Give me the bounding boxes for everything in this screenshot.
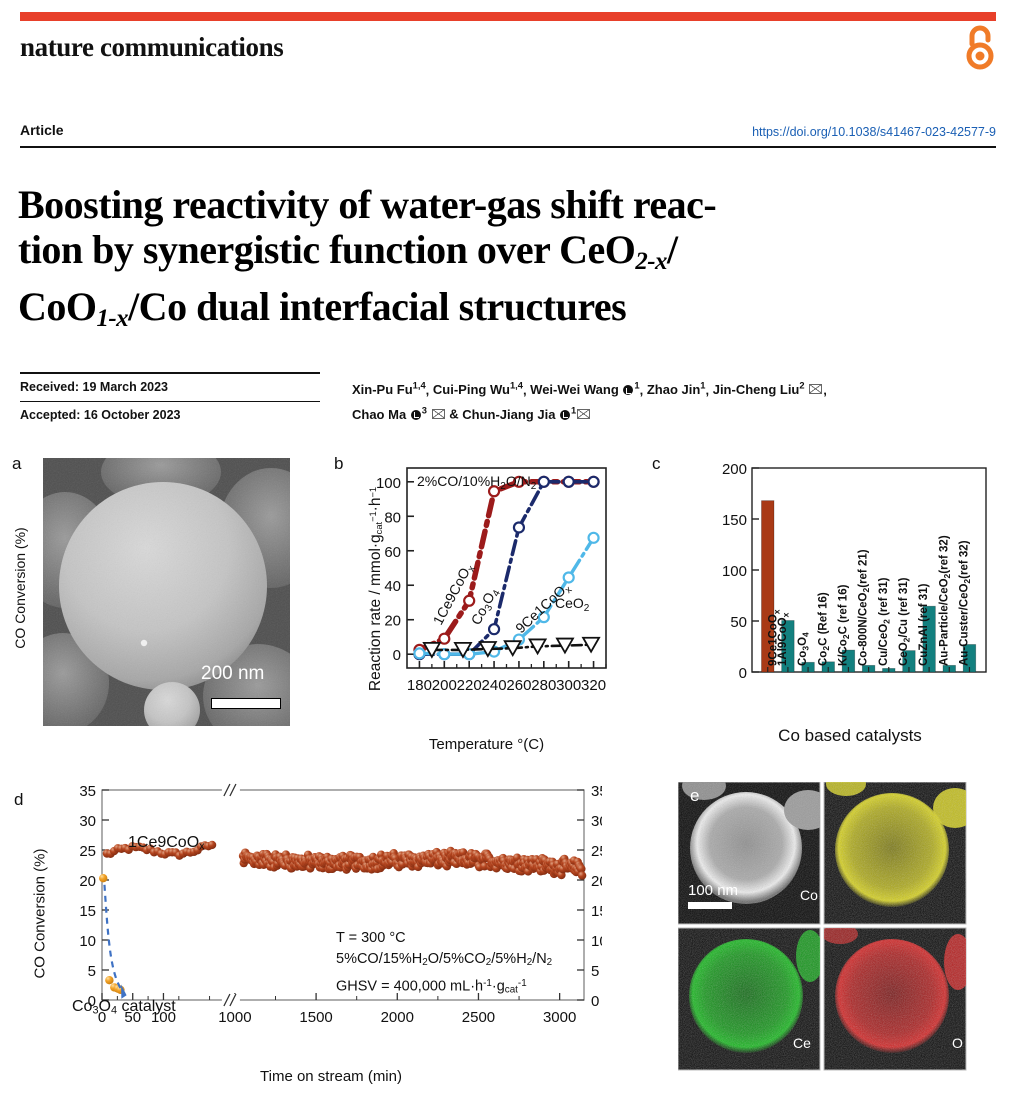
- author-list: Xin-Pu Fu1,4, Cui-Ping Wu1,4, Wei-Wei Wa…: [352, 376, 1000, 425]
- svg-text:1000: 1000: [218, 1009, 251, 1026]
- brand-accent-bar: [20, 12, 996, 21]
- author-zhao-jin: Zhao Jin1: [647, 382, 706, 397]
- author-chun-jiang-jia: Chun-Jiang Jia 1: [462, 407, 591, 422]
- paper-page: nature communications Article https://do…: [0, 0, 1016, 1095]
- figure-panel-group: a: [0, 450, 1016, 1095]
- title-line-3a: CoO: [18, 284, 97, 329]
- orcid-icon[interactable]: [560, 410, 570, 420]
- svg-text:240: 240: [482, 677, 507, 694]
- title-line-2-sub: 2-x: [635, 248, 667, 275]
- svg-text:25: 25: [79, 843, 96, 860]
- svg-text:200: 200: [722, 461, 747, 478]
- svg-text:0: 0: [591, 993, 599, 1010]
- panel-e-label: e: [690, 786, 699, 806]
- svg-text:60: 60: [384, 544, 401, 561]
- author-cui-ping-wu: Cui-Ping Wu1,4: [433, 382, 523, 397]
- svg-text:1Al9CoOx: 1Al9CoOx: [777, 612, 791, 666]
- panel-a-sem-image: 200 nm: [43, 458, 290, 726]
- panel-c-x-axis-title: Co based catalysts: [700, 726, 1000, 746]
- page-title: Boosting reactivity of water-gas shift r…: [18, 182, 718, 341]
- author-jin-cheng-liu: Jin-Cheng Liu2: [713, 382, 824, 397]
- panel-b-chart: 0204060801001802002202402602803003201Ce9…: [363, 458, 610, 713]
- svg-text:300: 300: [556, 677, 581, 694]
- email-icon[interactable]: [432, 409, 445, 419]
- panel-d-condition-ghsv: GHSV = 400,000 mL·h-1·gcat-1: [336, 973, 552, 1001]
- panel-c-y-axis-title: Reaction rate / mmol·gcat−1·h−1: [367, 469, 385, 709]
- email-icon[interactable]: [809, 384, 822, 394]
- svg-text:Co-800N/CeO2(ref 21): Co-800N/CeO2(ref 21): [858, 549, 872, 666]
- svg-text:80: 80: [384, 509, 401, 526]
- svg-text:15: 15: [591, 903, 602, 920]
- received-date: Received: 19 March 2023: [20, 374, 320, 401]
- svg-text:100: 100: [722, 563, 747, 580]
- panel-e-map-label-ce: Ce: [793, 1035, 811, 1051]
- header-divider: [20, 146, 996, 148]
- svg-text:0: 0: [393, 647, 401, 664]
- panel-d-conditions: T = 300 °C 5%CO/15%H2O/5%CO2/5%H2/N2 GHS…: [336, 928, 552, 1001]
- panel-d-condition-feed: 5%CO/15%H2O/5%CO2/5%H2/N2: [336, 949, 552, 973]
- svg-text:220: 220: [457, 677, 482, 694]
- svg-text:CeO2/Cu (ref 31): CeO2/Cu (ref 31): [898, 577, 912, 666]
- svg-text:200: 200: [432, 677, 457, 694]
- panel-d-label: d: [14, 790, 23, 810]
- author-xin-pu-fu: Xin-Pu Fu1,4: [352, 382, 426, 397]
- panel-e-map-label-o: O: [952, 1035, 963, 1051]
- svg-text:Au-Particle/CeO2(ref 32): Au-Particle/CeO2(ref 32): [938, 535, 952, 666]
- svg-text:5: 5: [88, 963, 96, 980]
- svg-text:25: 25: [591, 843, 602, 860]
- svg-text:320: 320: [581, 677, 606, 694]
- svg-text:180: 180: [407, 677, 432, 694]
- panel-e-scale-bar: [688, 902, 732, 909]
- title-line-3b: /Co dual interfacial structures: [128, 284, 626, 329]
- email-icon[interactable]: [577, 409, 590, 419]
- panel-d-series-label-main: 1Ce9CoOx: [128, 832, 205, 857]
- svg-text:Co2C (Ref 16): Co2C (Ref 16): [817, 592, 831, 666]
- svg-text:20: 20: [79, 873, 96, 890]
- doi-link[interactable]: https://doi.org/10.1038/s41467-023-42577…: [752, 125, 996, 139]
- svg-text:0: 0: [739, 665, 747, 682]
- svg-text:260: 260: [506, 677, 531, 694]
- svg-text:15: 15: [79, 903, 96, 920]
- svg-text:5: 5: [591, 963, 599, 980]
- panel-c-label: c: [652, 454, 661, 474]
- panel-e-elemental-maps: [678, 782, 988, 1072]
- publication-dates: Received: 19 March 2023 Accepted: 16 Oct…: [20, 372, 320, 429]
- svg-text:35: 35: [79, 783, 96, 800]
- svg-text:35: 35: [591, 783, 602, 800]
- panel-d-series-label-sub: Co3O4 catalyst: [72, 996, 176, 1021]
- svg-text:280: 280: [531, 677, 556, 694]
- orcid-icon[interactable]: [411, 410, 421, 420]
- svg-text:K/Co2C (ref 16): K/Co2C (ref 16): [837, 584, 851, 666]
- journal-title: nature communications: [20, 32, 283, 63]
- svg-text:150: 150: [722, 512, 747, 529]
- accepted-date: Accepted: 16 October 2023: [20, 402, 320, 429]
- author-wei-wei-wang: Wei-Wei Wang 1: [530, 382, 639, 397]
- panel-d-condition-temp: T = 300 °C: [336, 928, 552, 949]
- panel-b-label: b: [334, 454, 343, 474]
- title-line-1: Boosting reactivity of water-gas shift r…: [18, 182, 716, 227]
- svg-text:2000: 2000: [381, 1009, 414, 1026]
- title-line-3-sub: 1-x: [97, 305, 129, 332]
- svg-text:30: 30: [591, 813, 602, 830]
- open-access-lock-icon: [960, 24, 1000, 72]
- svg-text:20: 20: [591, 873, 602, 890]
- panel-d-x-axis-title: Time on stream (min): [60, 1068, 602, 1085]
- svg-text:10: 10: [591, 933, 602, 950]
- svg-text:1500: 1500: [299, 1009, 332, 1026]
- title-line-2b: /: [667, 227, 678, 272]
- svg-text:Au-Custer/CeO2(ref 32): Au-Custer/CeO2(ref 32): [959, 540, 973, 666]
- svg-text:10: 10: [79, 933, 96, 950]
- svg-text:2500: 2500: [462, 1009, 495, 1026]
- panel-d-y-axis-title: CO Conversion (%): [32, 784, 49, 1044]
- panel-b-x-axis-title: Temperature °(C): [363, 736, 610, 753]
- author-chao-ma: Chao Ma 3: [352, 407, 446, 422]
- svg-text:40: 40: [384, 578, 401, 595]
- title-line-2a: tion by synergistic function over CeO: [18, 227, 635, 272]
- svg-text:20: 20: [384, 613, 401, 630]
- svg-text:30: 30: [79, 813, 96, 830]
- panel-e-scale-label: 100 nm: [688, 882, 738, 899]
- svg-text:CuZnAl (ref 31): CuZnAl (ref 31): [918, 583, 930, 666]
- panel-e-map-label-co: Co: [800, 887, 818, 903]
- panel-a-scale-label: 200 nm: [201, 663, 264, 685]
- orcid-icon[interactable]: [623, 385, 633, 395]
- svg-text:3000: 3000: [543, 1009, 576, 1026]
- svg-text:50: 50: [730, 614, 747, 631]
- panel-b-y-axis-title: CO Conversion (%): [12, 483, 28, 693]
- panel-a-label: a: [12, 454, 21, 474]
- panel-a-scale-bar: [211, 698, 281, 709]
- panel-c-chart: 0501001502009Ce1CoOx1Al9CoOxCo3O4Co2C (R…: [718, 460, 990, 708]
- article-kicker: Article: [20, 122, 64, 138]
